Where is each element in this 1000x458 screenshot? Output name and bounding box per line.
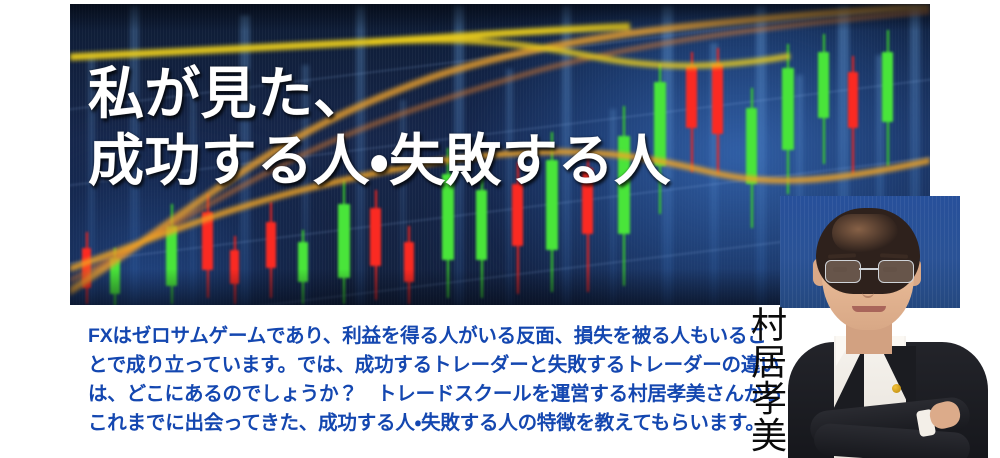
- lede-line-2: とで成り立っています。では、成功するトレーダーと失敗するトレーダーの違い: [88, 351, 728, 380]
- portrait-figure: [780, 196, 996, 458]
- mouth: [852, 306, 886, 312]
- lede-paragraph: FXはゼロサムゲームであり、利益を得る人がいる反面、損失を被る人もいるこ とで成…: [88, 322, 728, 438]
- portrait-photo: [780, 196, 996, 458]
- headline-line-1: 私が見た、: [88, 63, 671, 126]
- eyeglasses-icon: [824, 260, 914, 282]
- eyeglass-lens-right: [878, 260, 914, 283]
- eyeglass-bridge: [859, 268, 878, 270]
- lede-line-4: これまでに出会ってきた、成功する人・失敗する人の特徴を教えてもらいます。: [88, 409, 728, 438]
- lede-line-1: FXはゼロサムゲームであり、利益を得る人がいる反面、損失を被る人もいるこ: [88, 322, 728, 351]
- interviewee-name-vertical: 村居孝美: [748, 306, 784, 453]
- page-title: 私が見た、 成功する人・失敗する人: [88, 63, 671, 192]
- hair-highlight: [832, 214, 898, 252]
- headline-line-2: 成功する人・失敗する人: [88, 130, 671, 193]
- page-root: 私が見た、 成功する人・失敗する人: [0, 0, 1000, 458]
- lede-line-3: は、どこにあるのでしょうか？ トレードスクールを運営する村居孝美さんから、: [88, 380, 728, 409]
- lapel-pin: [892, 384, 901, 393]
- nose: [862, 280, 874, 298]
- eyeglass-lens-left: [825, 260, 861, 283]
